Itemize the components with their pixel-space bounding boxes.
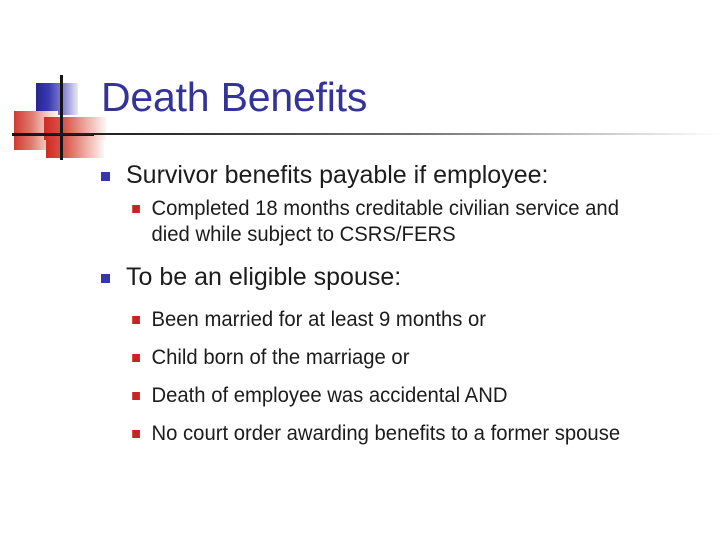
bullet-square-icon (132, 392, 140, 400)
bullet-level1: To be an eligible spouse: (0, 262, 720, 293)
logo-red-middle-block-icon (44, 117, 106, 140)
spacer (0, 412, 720, 421)
bullet-text: Death of employee was accidental AND (152, 384, 508, 407)
bullet-text: To be an eligible spouse: (126, 263, 401, 291)
bullet-level2: Completed 18 months creditable civilian … (0, 196, 695, 248)
bullet-text: Been married for at least 9 months or (152, 308, 487, 331)
bullet-square-icon (132, 316, 140, 324)
bullet-square-icon (101, 274, 110, 283)
bullet-level2: No court order awarding benefits to a fo… (0, 421, 695, 447)
bullet-square-icon (132, 205, 140, 213)
slide-body: Survivor benefits payable if employee: C… (0, 160, 720, 450)
logo-red-lower-block-icon (46, 140, 104, 158)
spacer (0, 374, 720, 383)
spacer (0, 251, 720, 262)
bullet-level1: Survivor benefits payable if employee: (0, 160, 720, 191)
title-divider (30, 133, 720, 135)
bullet-square-icon (132, 430, 140, 438)
bullet-level2: Been married for at least 9 months or (0, 307, 695, 333)
bullet-text: Completed 18 months creditable civilian … (152, 197, 619, 246)
spacer (0, 298, 720, 307)
bullet-square-icon (101, 172, 110, 181)
bullet-level2: Death of employee was accidental AND (0, 383, 695, 409)
bullet-text: Survivor benefits payable if employee: (126, 161, 548, 189)
bullet-text: No court order awarding benefits to a fo… (152, 422, 621, 445)
bullet-text: Child born of the marriage or (152, 346, 410, 369)
logo-crosshair-vertical-icon (60, 75, 63, 160)
slide-title: Death Benefits (101, 72, 367, 122)
spacer (0, 336, 720, 345)
bullet-level2: Child born of the marriage or (0, 345, 695, 371)
bullet-square-icon (132, 354, 140, 362)
slide-canvas: Death Benefits Survivor benefits payable… (0, 0, 720, 539)
